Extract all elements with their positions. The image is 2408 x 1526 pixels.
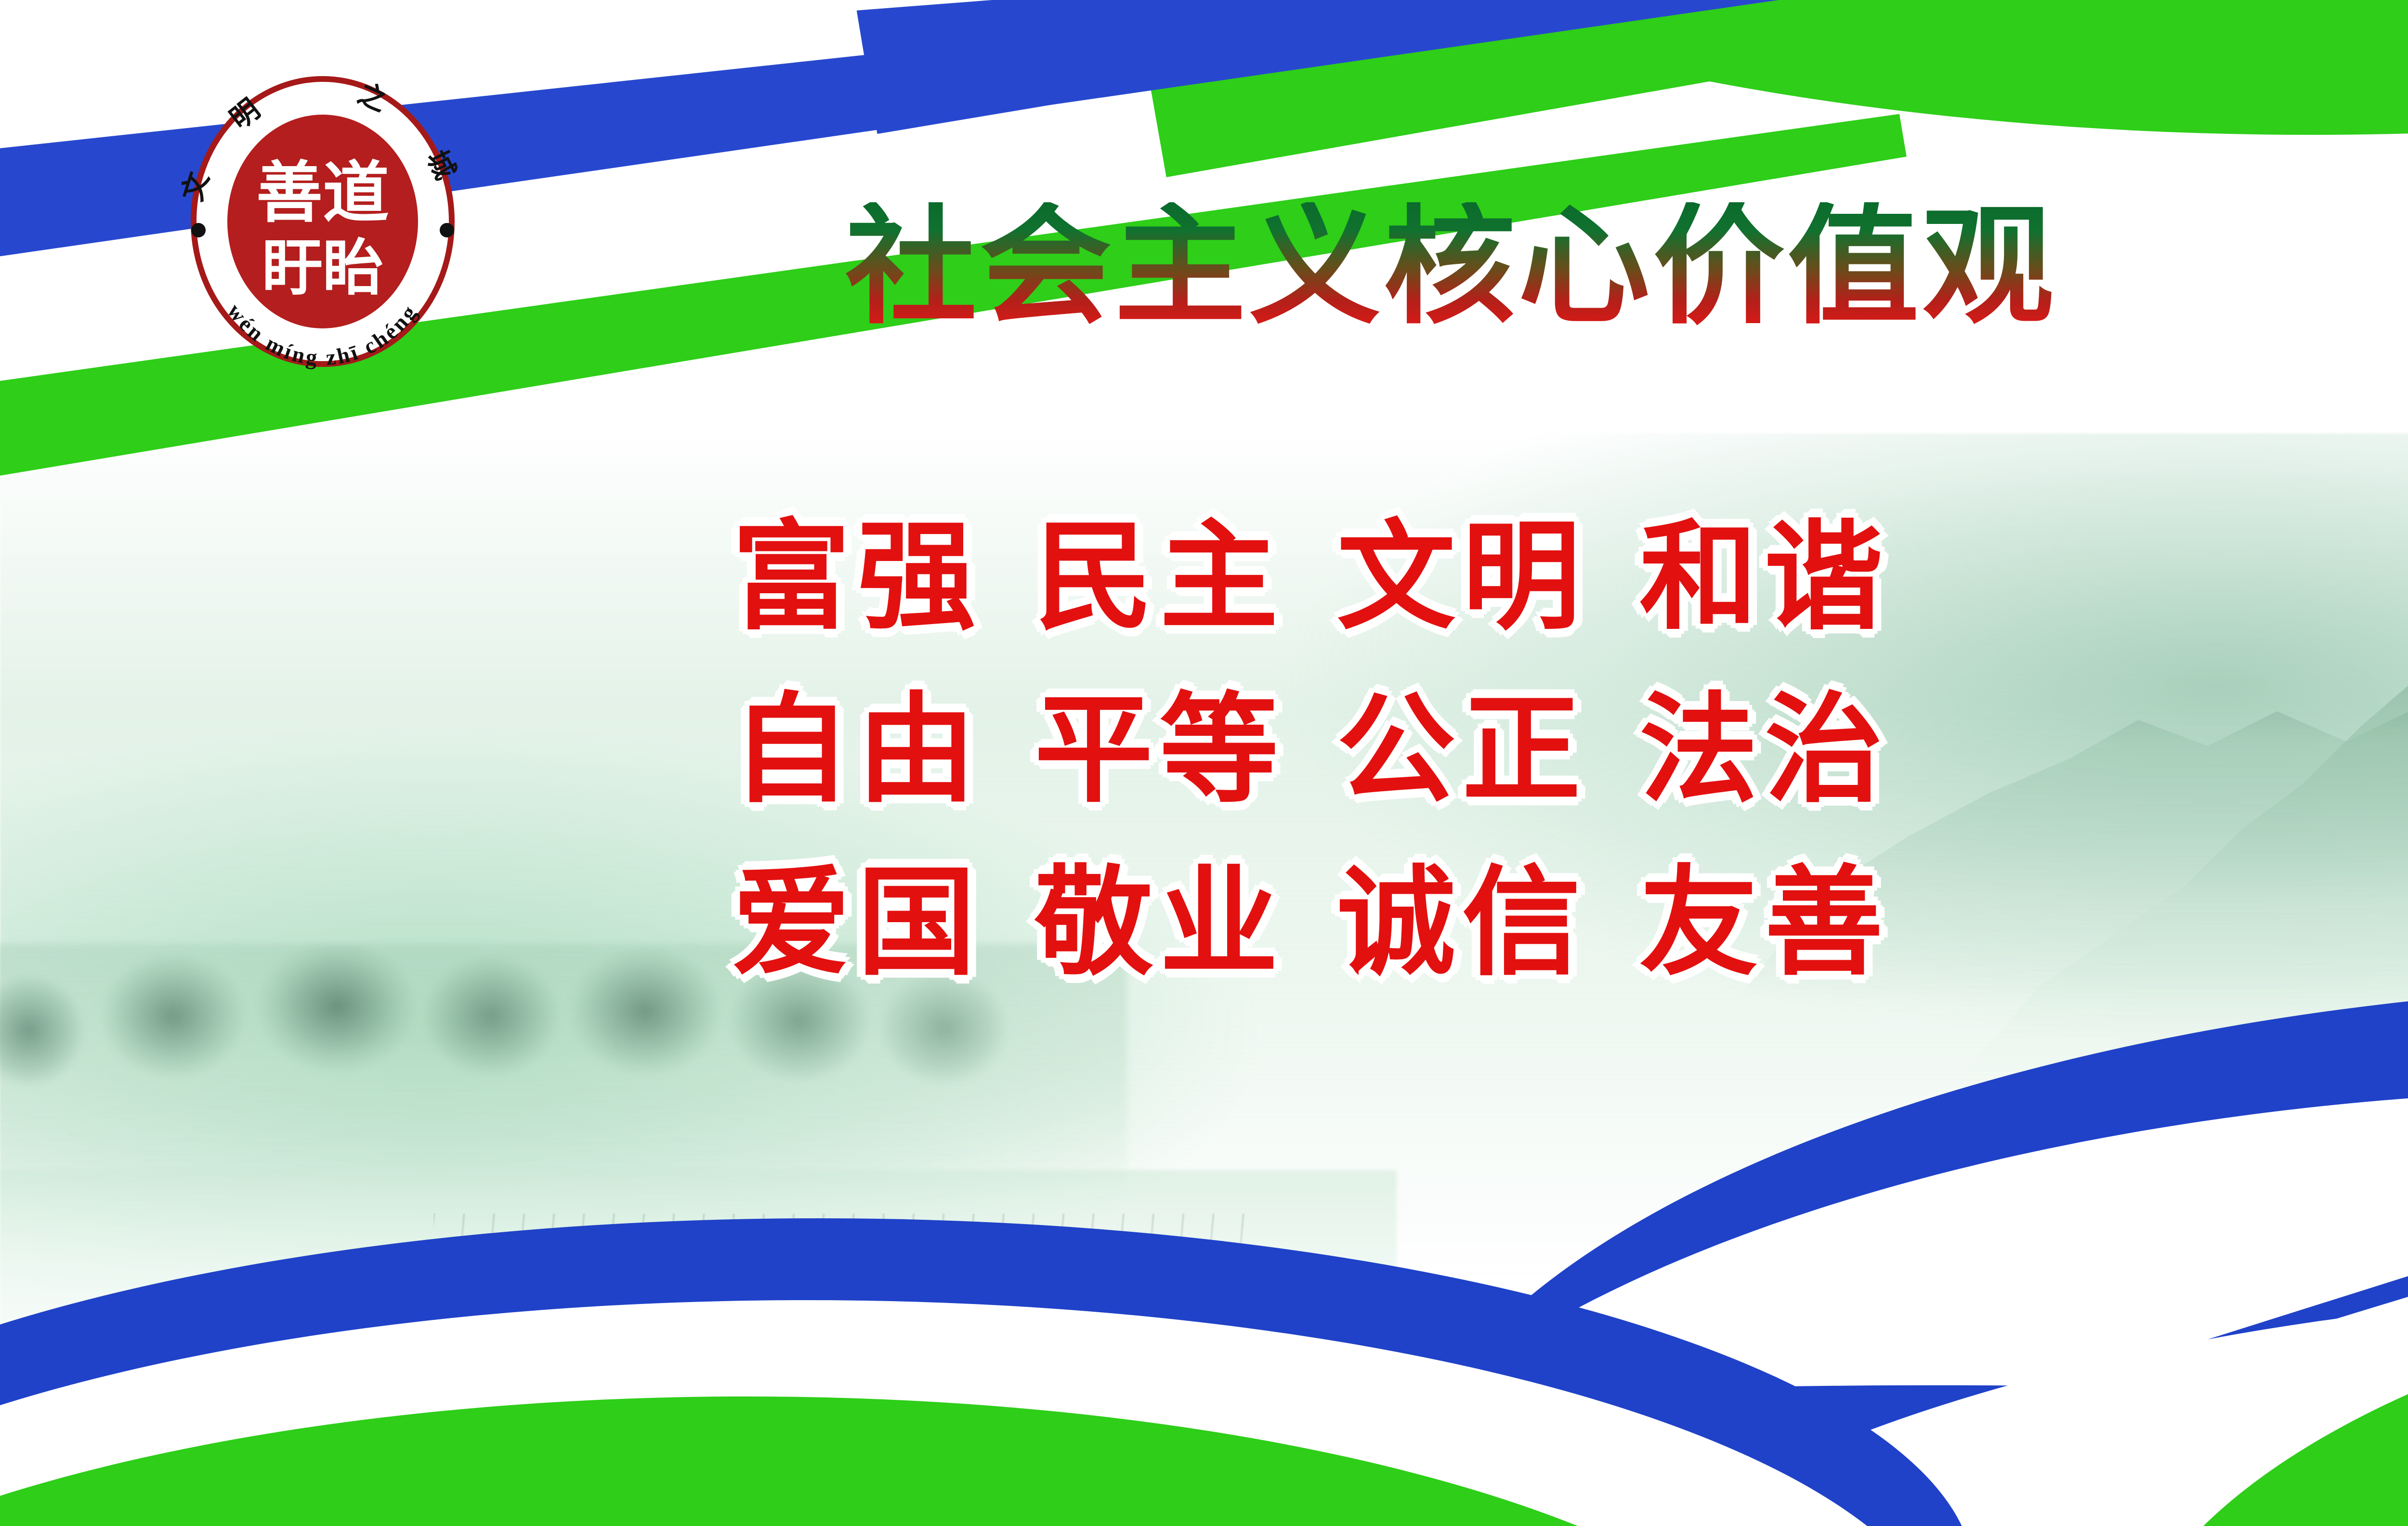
ribbon-white-bottom-sweep [1473,1238,2408,1526]
city-emblem-logo: 文 明 之 城 善道 盱眙 wén míng zhī chéng [159,63,486,380]
core-value-word: 敬业 [1034,854,1285,992]
core-value-word: 民主 [1034,509,1285,646]
ribbon-green-bottom-right [2091,1201,2408,1526]
core-value-word: 文明 [1337,509,1587,646]
ribbon-blue-thin-right [2139,969,2408,1377]
emblem-dot-right [440,223,454,237]
emblem-center-line2: 盱眙 [262,233,383,303]
emblem-dot-left [191,223,206,237]
ribbon-green-top-arc [1060,0,2408,135]
core-values-row-1: 富强民主文明和谐 [732,491,2408,664]
core-value-word: 和谐 [1639,509,1890,646]
core-value-word: 富强 [732,509,982,646]
ribbon-white-right-sweep [1277,1031,2408,1526]
core-values-row-3: 爱国敬业诚信友善 [732,837,2408,1010]
water-surface [0,1170,1397,1401]
core-values-row-2: 自由平等公正法治 [732,664,2408,837]
core-value-word: 自由 [732,681,982,819]
ribbon-blue-bottom-left-wave [0,1218,1975,1526]
emblem-center-line1: 善道 [256,154,389,232]
page-title: 社会主义核心价值观 [845,202,2056,331]
ribbon-blue-bottom-sweep [0,1354,2408,1526]
ribbon-green-upper-band [1145,0,2399,177]
ribbon-blue-right-sweep [1373,925,2408,1526]
core-values-block: 富强民主文明和谐 自由平等公正法治 爱国敬业诚信友善 [732,491,2408,1010]
banner-board: 文 明 之 城 善道 盱眙 wén míng zhī chéng 社会主义核心价… [0,0,2408,1526]
ribbon-green-bottom-left-wave [0,1396,1830,1526]
core-value-word: 友善 [1639,854,1890,992]
ribbon-white-bottom-left-wave [0,1300,1950,1526]
core-value-word: 公正 [1337,681,1587,819]
core-value-word: 诚信 [1337,854,1587,992]
core-value-word: 法治 [1639,681,1890,819]
reeds-icon [433,1213,1252,1324]
core-value-word: 爱国 [732,854,982,992]
ribbon-blue-upper-band [857,0,2017,134]
core-value-word: 平等 [1034,681,1285,819]
